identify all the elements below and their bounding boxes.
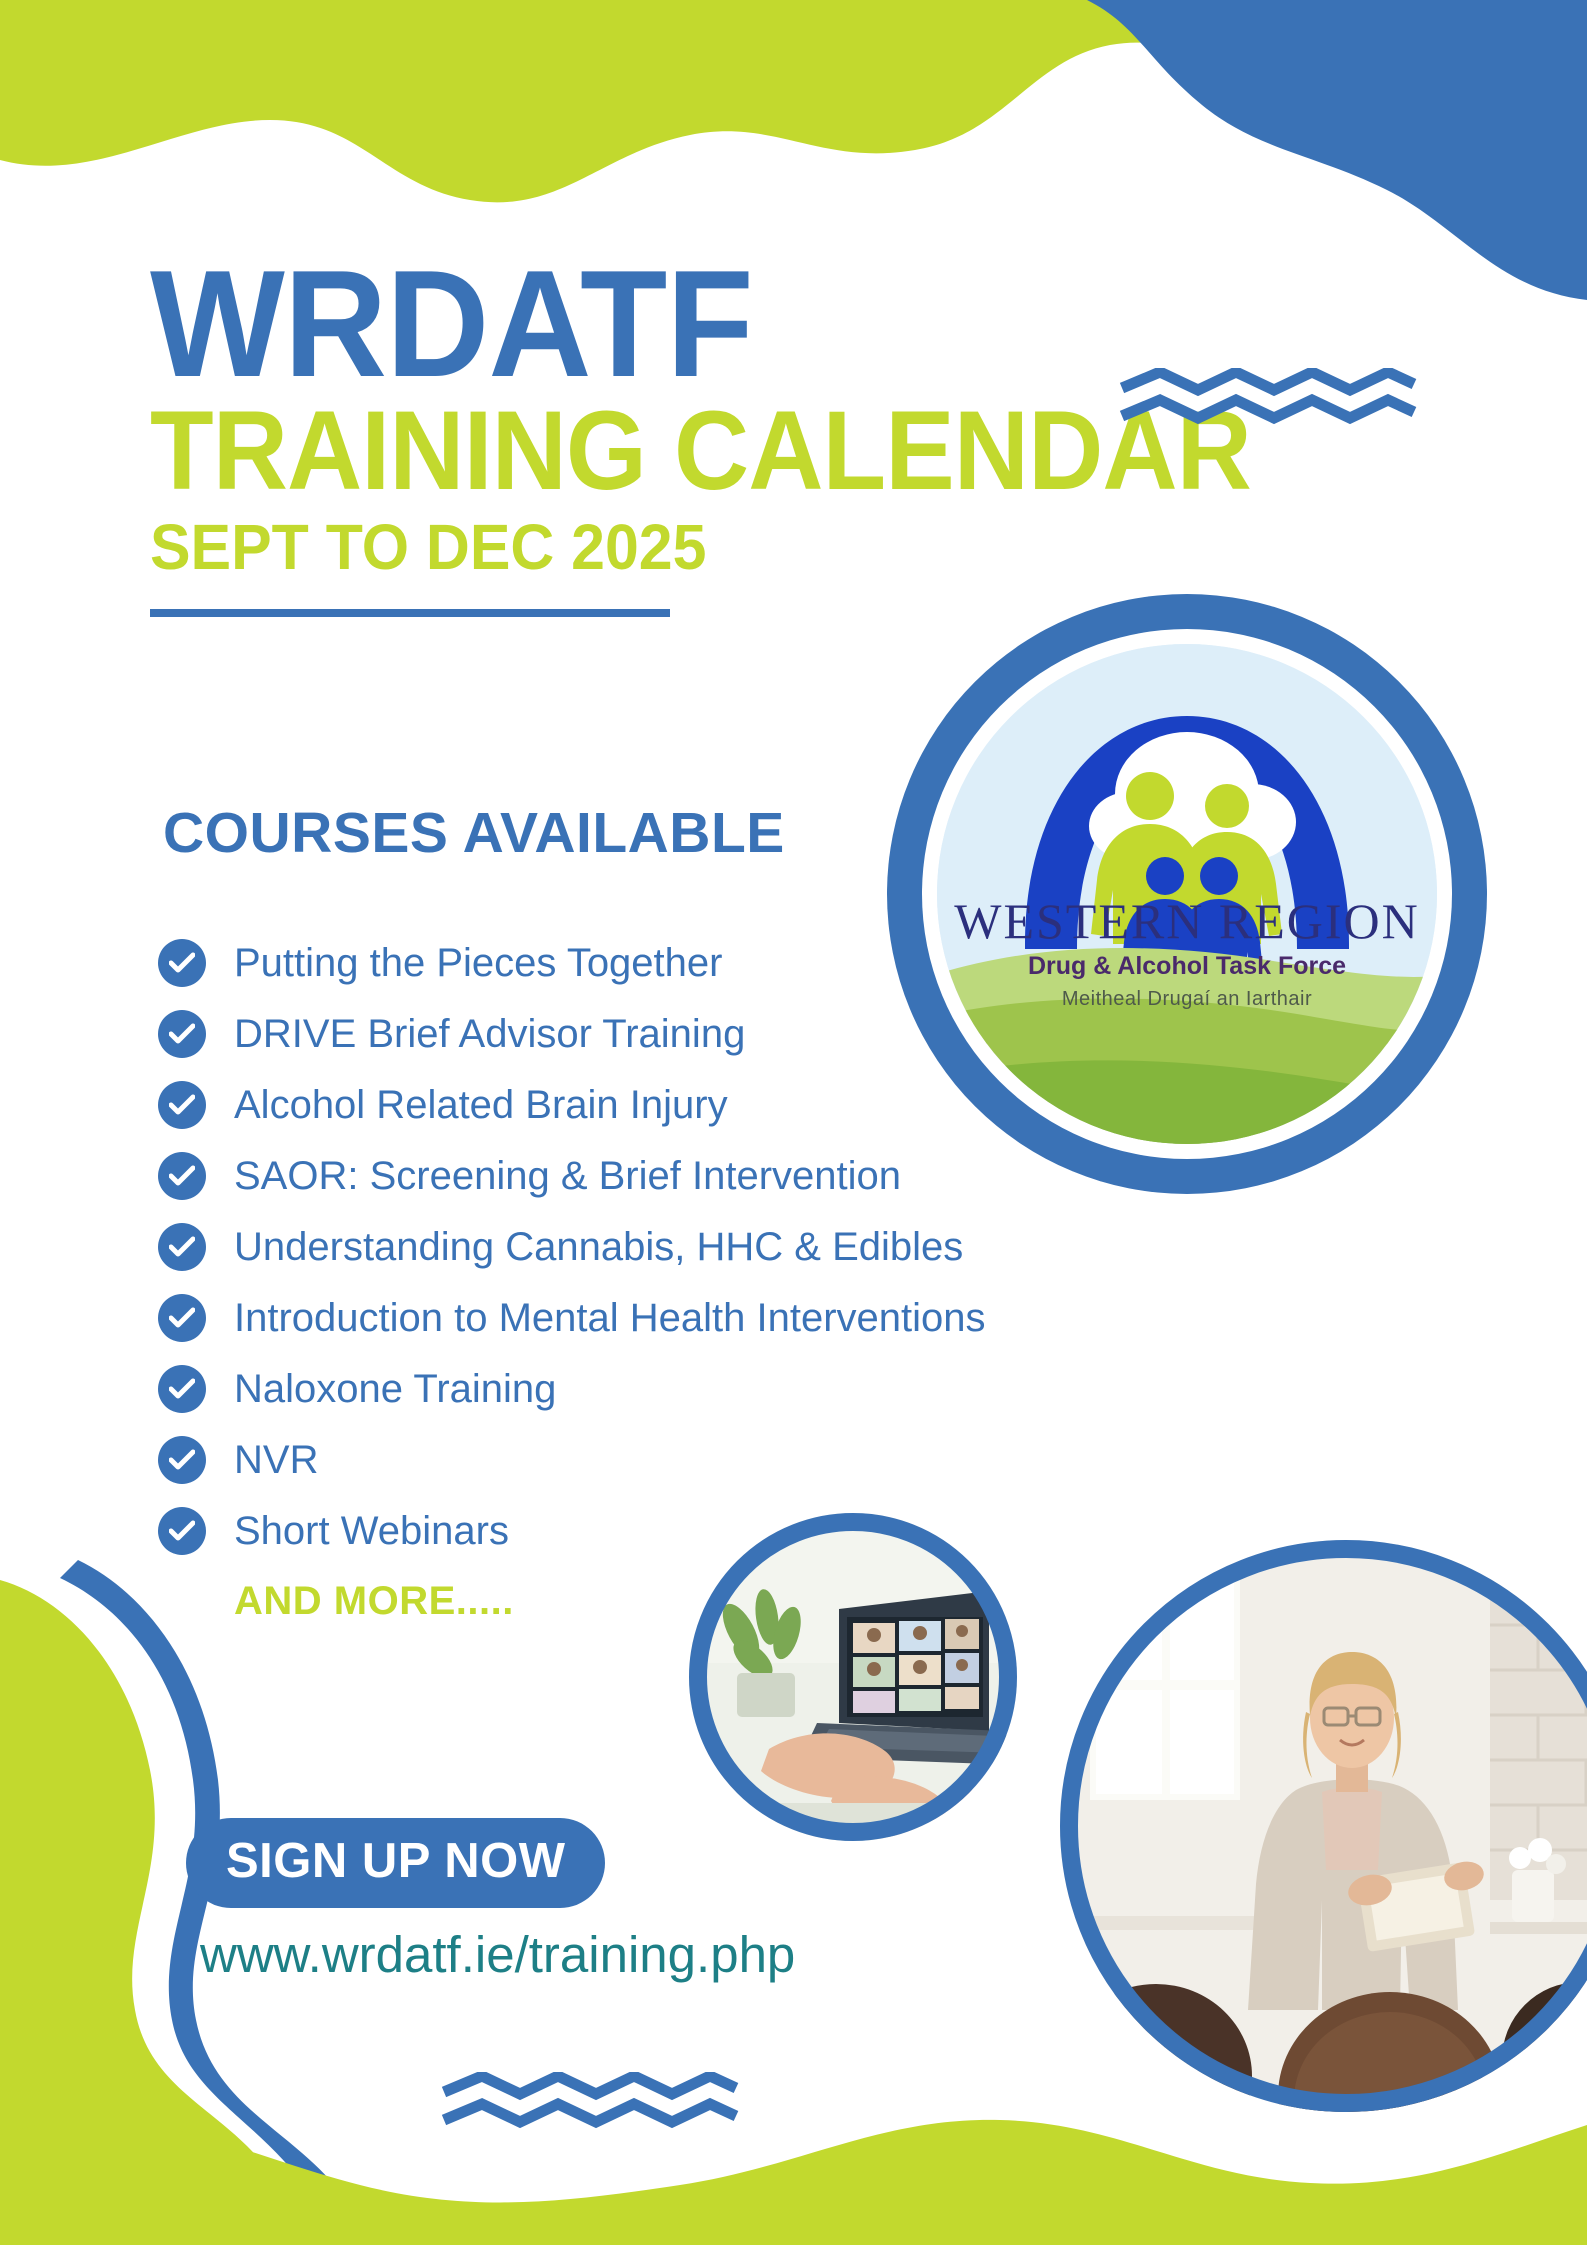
list-item: Naloxone Training: [158, 1366, 1178, 1412]
logo-name: WESTERN REGION: [937, 896, 1437, 946]
sign-up-button[interactable]: SIGN UP NOW: [186, 1818, 605, 1908]
check-circle-icon: [158, 1436, 206, 1484]
wrdatf-logo: WESTERN REGION Drug & Alcohol Task Force…: [887, 594, 1487, 1194]
course-label: Introduction to Mental Health Interventi…: [234, 1296, 986, 1341]
course-label: Naloxone Training: [234, 1367, 556, 1412]
check-circle-icon: [158, 1081, 206, 1129]
list-item: SAOR: Screening & Brief Intervention: [158, 1153, 1178, 1199]
check-circle-icon: [158, 1294, 206, 1342]
list-item: Understanding Cannabis, HHC & Edibles: [158, 1224, 1178, 1270]
zigzag-divider-icon: [440, 2072, 740, 2142]
logo-text-block: WESTERN REGION Drug & Alcohol Task Force…: [937, 896, 1437, 1011]
logo-descriptor: Drug & Alcohol Task Force: [937, 952, 1437, 981]
logo-artwork: WESTERN REGION Drug & Alcohol Task Force…: [937, 644, 1437, 1144]
zigzag-divider-icon: [1118, 368, 1418, 438]
list-item: Introduction to Mental Health Interventi…: [158, 1295, 1178, 1341]
course-label: NVR: [234, 1438, 318, 1483]
photo-video-call-ring: [689, 1513, 1017, 1841]
list-item: Short Webinars: [158, 1508, 1178, 1554]
course-label: Short Webinars: [234, 1509, 509, 1554]
check-circle-icon: [158, 1010, 206, 1058]
logo-inner-ring: WESTERN REGION Drug & Alcohol Task Force…: [922, 629, 1452, 1159]
check-circle-icon: [158, 1507, 206, 1555]
website-url[interactable]: www.wrdatf.ie/training.php: [200, 1925, 795, 1984]
check-circle-icon: [158, 1152, 206, 1200]
check-circle-icon: [158, 1223, 206, 1271]
course-label: SAOR: Screening & Brief Intervention: [234, 1154, 901, 1199]
poster-canvas: WRDATF TRAINING CALENDAR SEPT TO DEC 202…: [0, 0, 1587, 2245]
photo-trainer-ring: [1060, 1540, 1587, 2112]
course-label: Understanding Cannabis, HHC & Edibles: [234, 1225, 963, 1270]
course-label: DRIVE Brief Advisor Training: [234, 1012, 745, 1057]
check-circle-icon: [158, 1365, 206, 1413]
date-range: SEPT TO DEC 2025: [150, 507, 1442, 587]
title-divider: [150, 609, 670, 617]
section-heading: COURSES AVAILABLE: [163, 800, 785, 866]
course-label: Putting the Pieces Together: [234, 941, 722, 986]
check-circle-icon: [158, 939, 206, 987]
list-item: NVR: [158, 1437, 1178, 1483]
logo-irish-name: Meitheal Drugaí an Iarthair: [937, 988, 1437, 1011]
course-label: Alcohol Related Brain Injury: [234, 1083, 728, 1128]
